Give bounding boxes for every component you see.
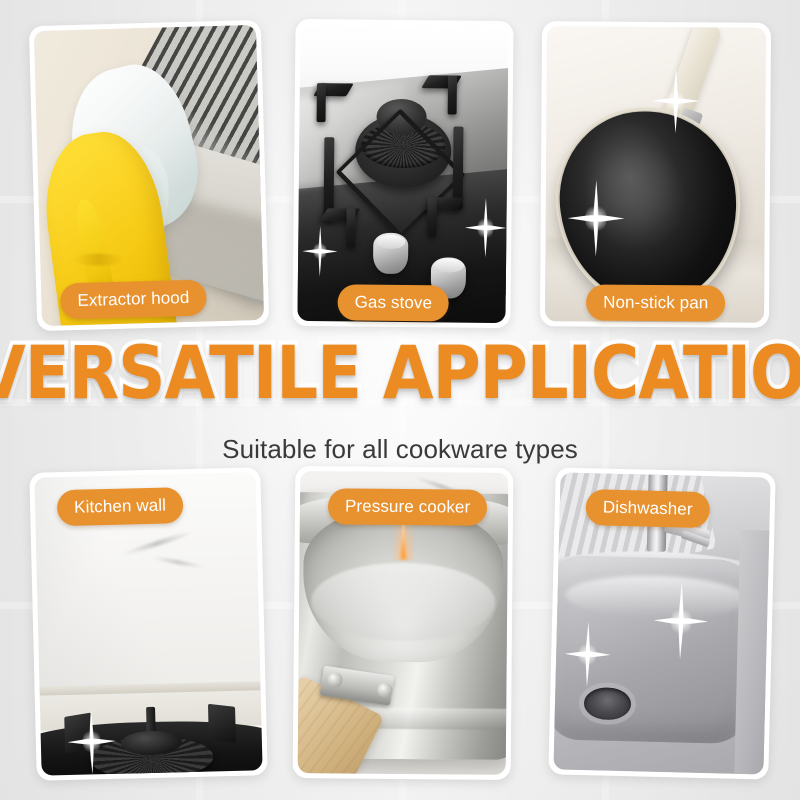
tile-kitchen-wall[interactable]: Kitchen wall — [29, 467, 267, 781]
grate-arm-bottom-right-vertical — [427, 198, 437, 237]
photo-gas-stove — [297, 24, 508, 323]
tile-label-gas-stove[interactable]: Gas stove — [337, 284, 449, 321]
tile-non-stick-pan[interactable]: Non-stick pan — [540, 21, 771, 328]
sink-right-edge-shape — [734, 530, 771, 774]
grate-arm-bottom-left-vertical — [346, 209, 356, 248]
tile-extractor-hood[interactable]: Extractor hood — [29, 20, 269, 331]
grate-arm-right — [208, 704, 235, 743]
tile-label-kitchen-wall[interactable]: Kitchen wall — [57, 487, 184, 526]
page-title: VERSATILE APPLICATION — [0, 336, 800, 409]
page-subtitle: Suitable for all cookware types — [0, 434, 800, 465]
grate-arm-left — [65, 713, 92, 753]
tile-pressure-cooker[interactable]: Pressure cooker — [293, 466, 514, 780]
tile-label-non-stick-pan[interactable]: Non-stick pan — [586, 285, 725, 322]
tile-label-extractor-hood[interactable]: Extractor hood — [60, 279, 207, 319]
photo-non-stick-pan — [545, 26, 766, 323]
tile-label-dishwasher[interactable]: Dishwasher — [585, 489, 710, 528]
glove-crease-shape — [73, 253, 124, 265]
tile-label-pressure-cooker[interactable]: Pressure cooker — [328, 488, 488, 525]
stove-knob-left — [373, 233, 409, 275]
pot-inner-band-shape — [311, 562, 495, 642]
tile-gas-stove[interactable]: Gas stove — [292, 19, 513, 328]
pot-rivet — [377, 683, 392, 698]
tile-dishwasher[interactable]: Dishwasher — [548, 467, 775, 779]
pot-rivet — [328, 672, 343, 687]
grate-arm-top-right-vertical — [447, 76, 457, 115]
grate-arm-top-left-vertical — [316, 83, 326, 122]
headline-block: VERSATILE APPLICATION Suitable for all c… — [0, 342, 800, 465]
